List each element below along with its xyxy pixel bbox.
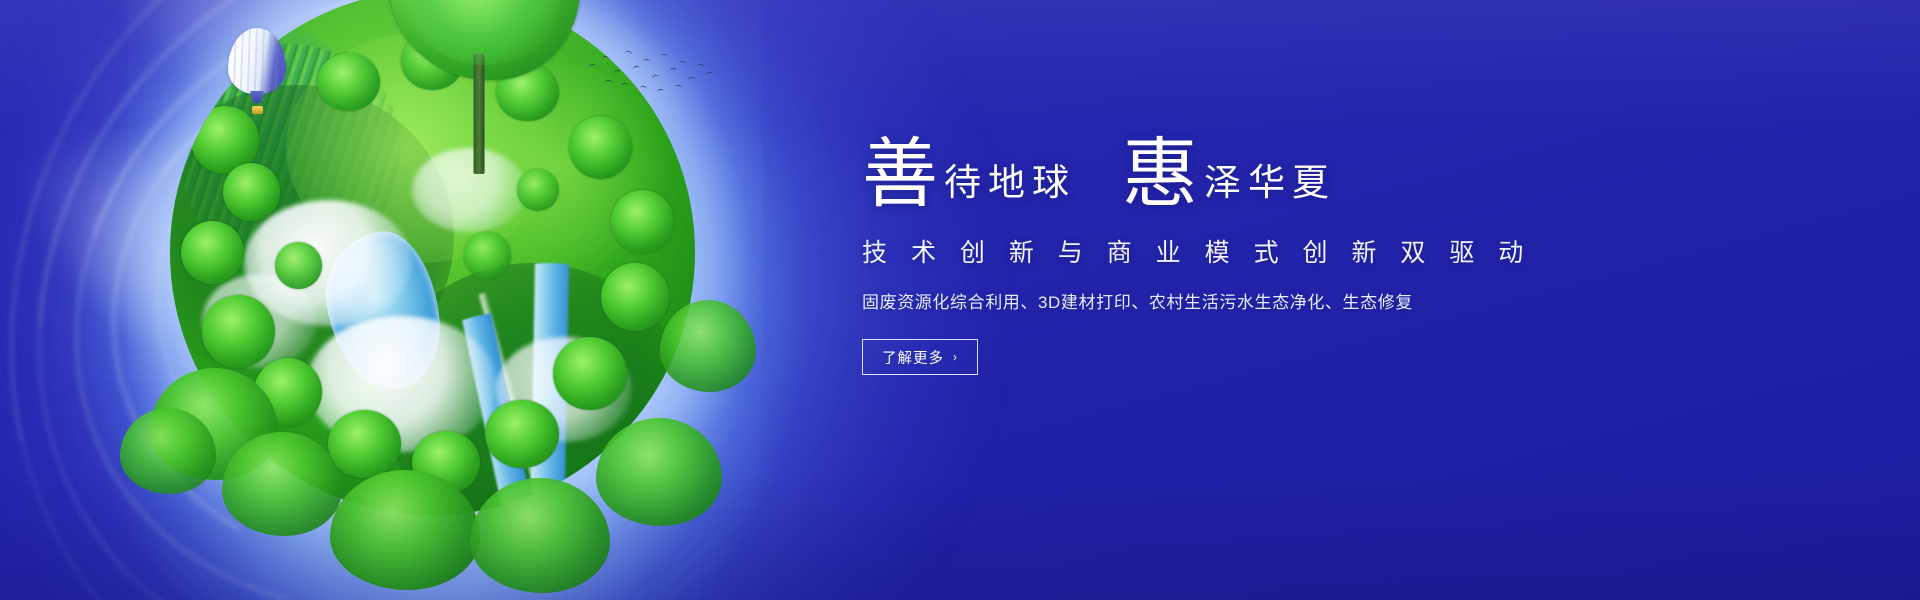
hot-air-balloon-icon xyxy=(228,28,286,118)
page-subtitle: 技 术 创 新 与 商 业 模 式 创 新 双 驱 动 xyxy=(862,233,1542,269)
hero-copy: 善 待地球 惠 泽华夏 技 术 创 新 与 商 业 模 式 创 新 双 驱 动 … xyxy=(862,125,1542,375)
tree-icon xyxy=(660,300,756,392)
chevron-right-icon: › xyxy=(953,351,958,363)
headline-text-1: 待地球 xyxy=(944,165,1076,211)
learn-more-button[interactable]: 了解更多 › xyxy=(862,339,978,375)
tree-icon xyxy=(120,408,216,494)
headline-char-1: 善 xyxy=(862,141,938,211)
bird-flock-icon xyxy=(585,42,725,102)
page-title: 善 待地球 惠 泽华夏 xyxy=(862,125,1542,211)
headline-char-2: 惠 xyxy=(1122,141,1198,211)
page-description: 固废资源化综合利用、3D建材打印、农村生活污水生态净化、生态修复 xyxy=(862,288,1542,313)
hero-banner: 善 待地球 惠 泽华夏 技 术 创 新 与 商 业 模 式 创 新 双 驱 动 … xyxy=(0,0,1920,600)
learn-more-label: 了解更多 xyxy=(882,347,944,368)
headline-text-2: 泽华夏 xyxy=(1204,165,1336,211)
